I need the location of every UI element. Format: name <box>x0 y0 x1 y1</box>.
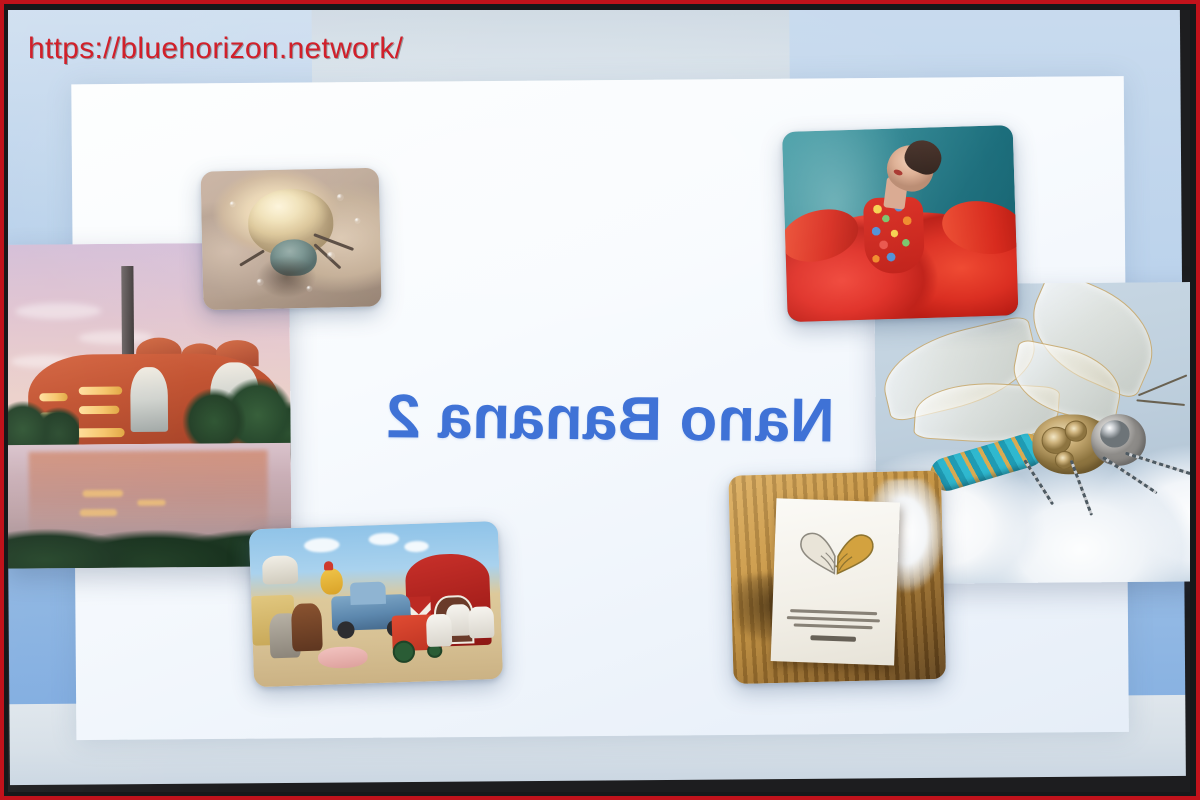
url-watermark: https://bluehorizon.network/ <box>28 32 403 66</box>
dewdrop <box>336 193 343 200</box>
nano-banana-wordmark: Nano Banana 2 <box>347 363 874 473</box>
cloud-shape <box>16 302 102 319</box>
hands-heart-icon <box>788 515 884 590</box>
cloud-shape <box>369 532 399 546</box>
image-card-thank-you[interactable] <box>728 470 946 684</box>
cow <box>468 606 494 638</box>
reflection-highlight <box>137 499 166 506</box>
pig <box>318 645 369 669</box>
truck-cab <box>350 582 386 605</box>
reflection-highlight <box>80 509 117 516</box>
thank-you-photo <box>728 470 946 684</box>
lit-window <box>79 406 119 415</box>
image-card-beetle-macro[interactable] <box>201 168 382 310</box>
signature-line <box>810 635 856 642</box>
message-line <box>787 616 880 622</box>
dancer-photo <box>782 125 1018 322</box>
skew-wrapper: Nano Banana 2 <box>8 10 1190 792</box>
dewdrop <box>327 252 335 260</box>
goat <box>262 555 298 585</box>
message-line <box>791 609 878 615</box>
greeting-card-paper <box>771 498 900 665</box>
image-card-folk-dancer[interactable] <box>782 125 1018 322</box>
reflection-highlight <box>83 490 123 497</box>
message-line <box>794 623 873 629</box>
farm-photo <box>249 521 503 687</box>
floral-embroidery <box>867 200 920 270</box>
lit-window <box>79 386 122 395</box>
dewdrop <box>355 218 361 224</box>
gear-icon <box>1064 421 1087 442</box>
glass-facade <box>130 367 168 432</box>
outer-red-frame: Nano Banana 2 https://bluehorizon.networ… <box>0 0 1200 800</box>
eye-lens <box>1100 420 1130 447</box>
cloud-shape <box>304 537 339 552</box>
dewdrop <box>230 201 236 207</box>
chicken <box>320 567 343 595</box>
handwritten-message <box>783 596 884 655</box>
beetle-photo <box>201 168 382 310</box>
dewdrop <box>256 278 263 285</box>
tractor-wheel <box>392 641 415 664</box>
screenshot-canvas: Nano Banana 2 https://bluehorizon.networ… <box>8 10 1190 792</box>
image-card-claymation-farm[interactable] <box>249 521 503 687</box>
horse <box>291 603 322 651</box>
truck-wheel <box>337 621 355 639</box>
cow <box>426 614 452 646</box>
lit-window <box>74 428 125 437</box>
cloud-shape <box>404 541 429 553</box>
